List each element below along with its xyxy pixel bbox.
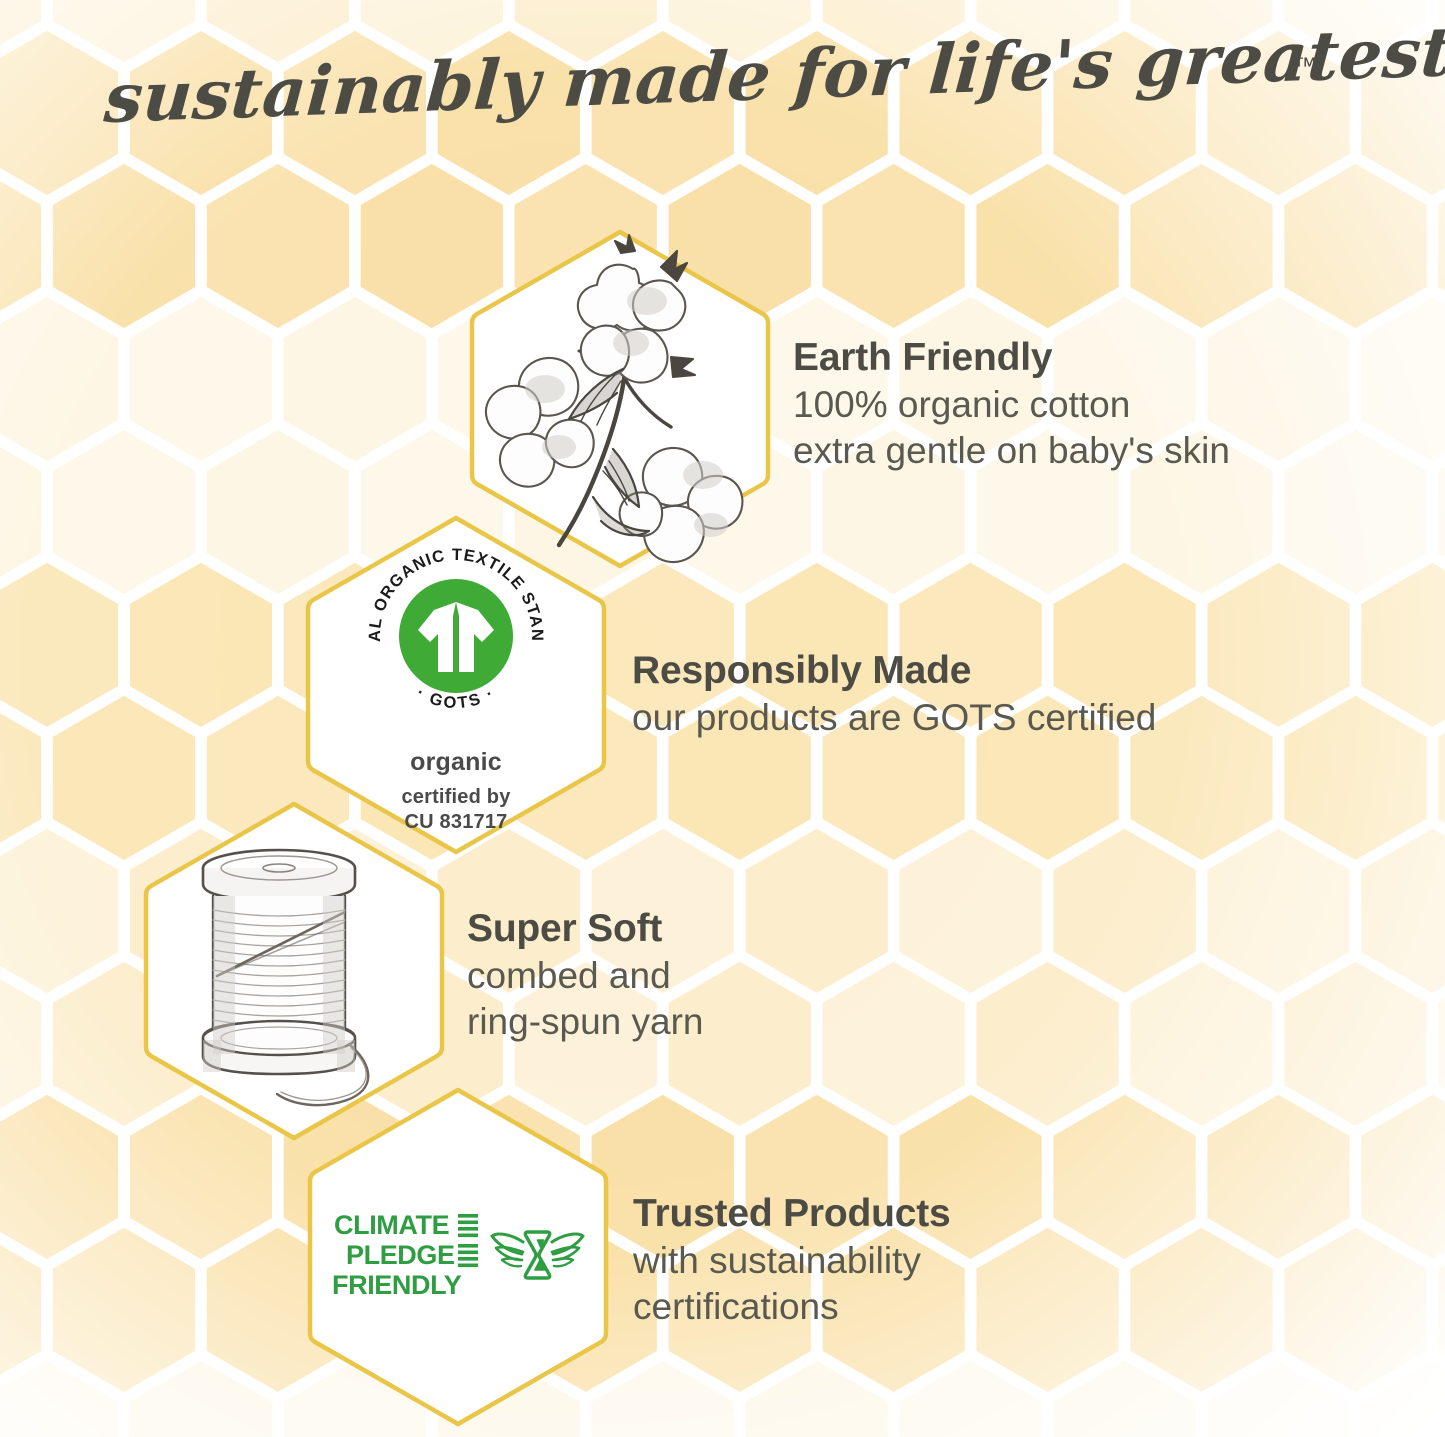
feature-line: combed and xyxy=(467,953,704,1000)
honeycomb-cell xyxy=(746,31,888,195)
honeycomb-cell xyxy=(0,1095,118,1259)
climate-pledge-line3: FRIENDLY xyxy=(332,1270,462,1300)
honeycomb-cell xyxy=(0,1228,41,1392)
honeycomb-cell xyxy=(1361,829,1445,993)
honeycomb-cell xyxy=(1053,829,1195,993)
feature-line: with sustainability xyxy=(633,1238,951,1285)
honeycomb-cell xyxy=(899,829,1041,993)
feature-line: certifications xyxy=(633,1284,951,1331)
honeycomb-cell xyxy=(53,1228,195,1392)
honeycomb-cell xyxy=(1207,563,1349,727)
winged-hourglass-icon xyxy=(492,1232,583,1278)
honeycomb-cell xyxy=(976,962,1118,1126)
honeycomb-cell xyxy=(1361,563,1445,727)
honeycomb-cell xyxy=(1130,1228,1272,1392)
honeycomb-cell xyxy=(0,31,118,195)
honeycomb-cell xyxy=(53,430,195,594)
honeycomb-cell xyxy=(1053,31,1195,195)
honeycomb-cell xyxy=(0,297,118,461)
feature-text-trusted-products: Trusted Products with sustainability cer… xyxy=(633,1190,951,1331)
honeycomb-cell xyxy=(0,164,41,328)
honeycomb-cell xyxy=(0,430,41,594)
honeycomb-cell xyxy=(1361,31,1445,195)
honeycomb-cell xyxy=(1130,962,1272,1126)
feature-line: extra gentle on baby's skin xyxy=(793,428,1230,475)
climate-pledge-line2: PLEDGE xyxy=(346,1240,455,1270)
honeycomb-cell xyxy=(1361,297,1445,461)
honeycomb-cell xyxy=(1207,31,1349,195)
honeycomb-cell xyxy=(1284,962,1426,1126)
climate-pledge-line1: CLIMATE xyxy=(334,1210,449,1240)
honeycomb-cell xyxy=(130,563,272,727)
honeycomb-cell xyxy=(592,31,734,195)
honeycomb-cell xyxy=(284,297,426,461)
honeycomb-cell xyxy=(1284,1228,1426,1392)
feature-title: Super Soft xyxy=(467,905,704,953)
climate-pledge-bars xyxy=(458,1214,478,1267)
honeycomb-cell xyxy=(1207,829,1349,993)
honeycomb-cell xyxy=(53,164,195,328)
honeycomb-cell xyxy=(1207,1095,1349,1259)
honeycomb-cell xyxy=(130,31,272,195)
honeycomb-cell xyxy=(976,164,1118,328)
gots-green-circle xyxy=(399,579,513,693)
feature-line: 100% organic cotton xyxy=(793,382,1230,429)
honeycomb-cell xyxy=(976,1228,1118,1392)
honeycomb-cell xyxy=(438,31,580,195)
honeycomb-cell xyxy=(746,829,888,993)
honeycomb-cell xyxy=(0,563,118,727)
feature-title: Earth Friendly xyxy=(793,334,1230,382)
honeycomb-cell xyxy=(823,962,965,1126)
honeycomb-cell xyxy=(1053,1095,1195,1259)
honeycomb-cell xyxy=(0,696,41,860)
honeycomb-cell xyxy=(130,297,272,461)
gots-organic-label: organic xyxy=(410,748,502,777)
feature-line: ring-spun yarn xyxy=(467,999,704,1046)
climate-pledge-friendly-icon: CLIMATE PLEDGE FRIENDLY xyxy=(304,1084,612,1430)
honeycomb-cell xyxy=(899,31,1041,195)
honeycomb-cell xyxy=(0,829,118,993)
feature-line: our products are GOTS certified xyxy=(632,695,1156,742)
honeycomb-cell xyxy=(1284,430,1426,594)
honeycomb-cell xyxy=(1284,164,1426,328)
feature-title: Trusted Products xyxy=(633,1190,951,1238)
honeycomb-cell xyxy=(0,962,41,1126)
honeycomb-cell xyxy=(823,164,965,328)
honeycomb-cell xyxy=(207,164,349,328)
feature-text-earth-friendly: Earth Friendly 100% organic cotton extra… xyxy=(793,334,1230,475)
gots-seal-icon: GLOBAL ORGANIC TEXTILE STANDARD · GOTS · xyxy=(356,536,556,736)
honeycomb-cell xyxy=(1284,696,1426,860)
infographic-canvas: sustainably made for life's greatest joy… xyxy=(0,0,1445,1437)
honeycomb-cell xyxy=(1130,164,1272,328)
feature-text-super-soft: Super Soft combed and ring-spun yarn xyxy=(467,905,704,1046)
feature-card-trusted-products: CLIMATE PLEDGE FRIENDLY xyxy=(304,1084,612,1430)
honeycomb-cell xyxy=(284,31,426,195)
feature-title: Responsibly Made xyxy=(632,647,1156,695)
honeycomb-cell xyxy=(1361,1095,1445,1259)
feature-text-responsibly-made: Responsibly Made our products are GOTS c… xyxy=(632,647,1156,741)
